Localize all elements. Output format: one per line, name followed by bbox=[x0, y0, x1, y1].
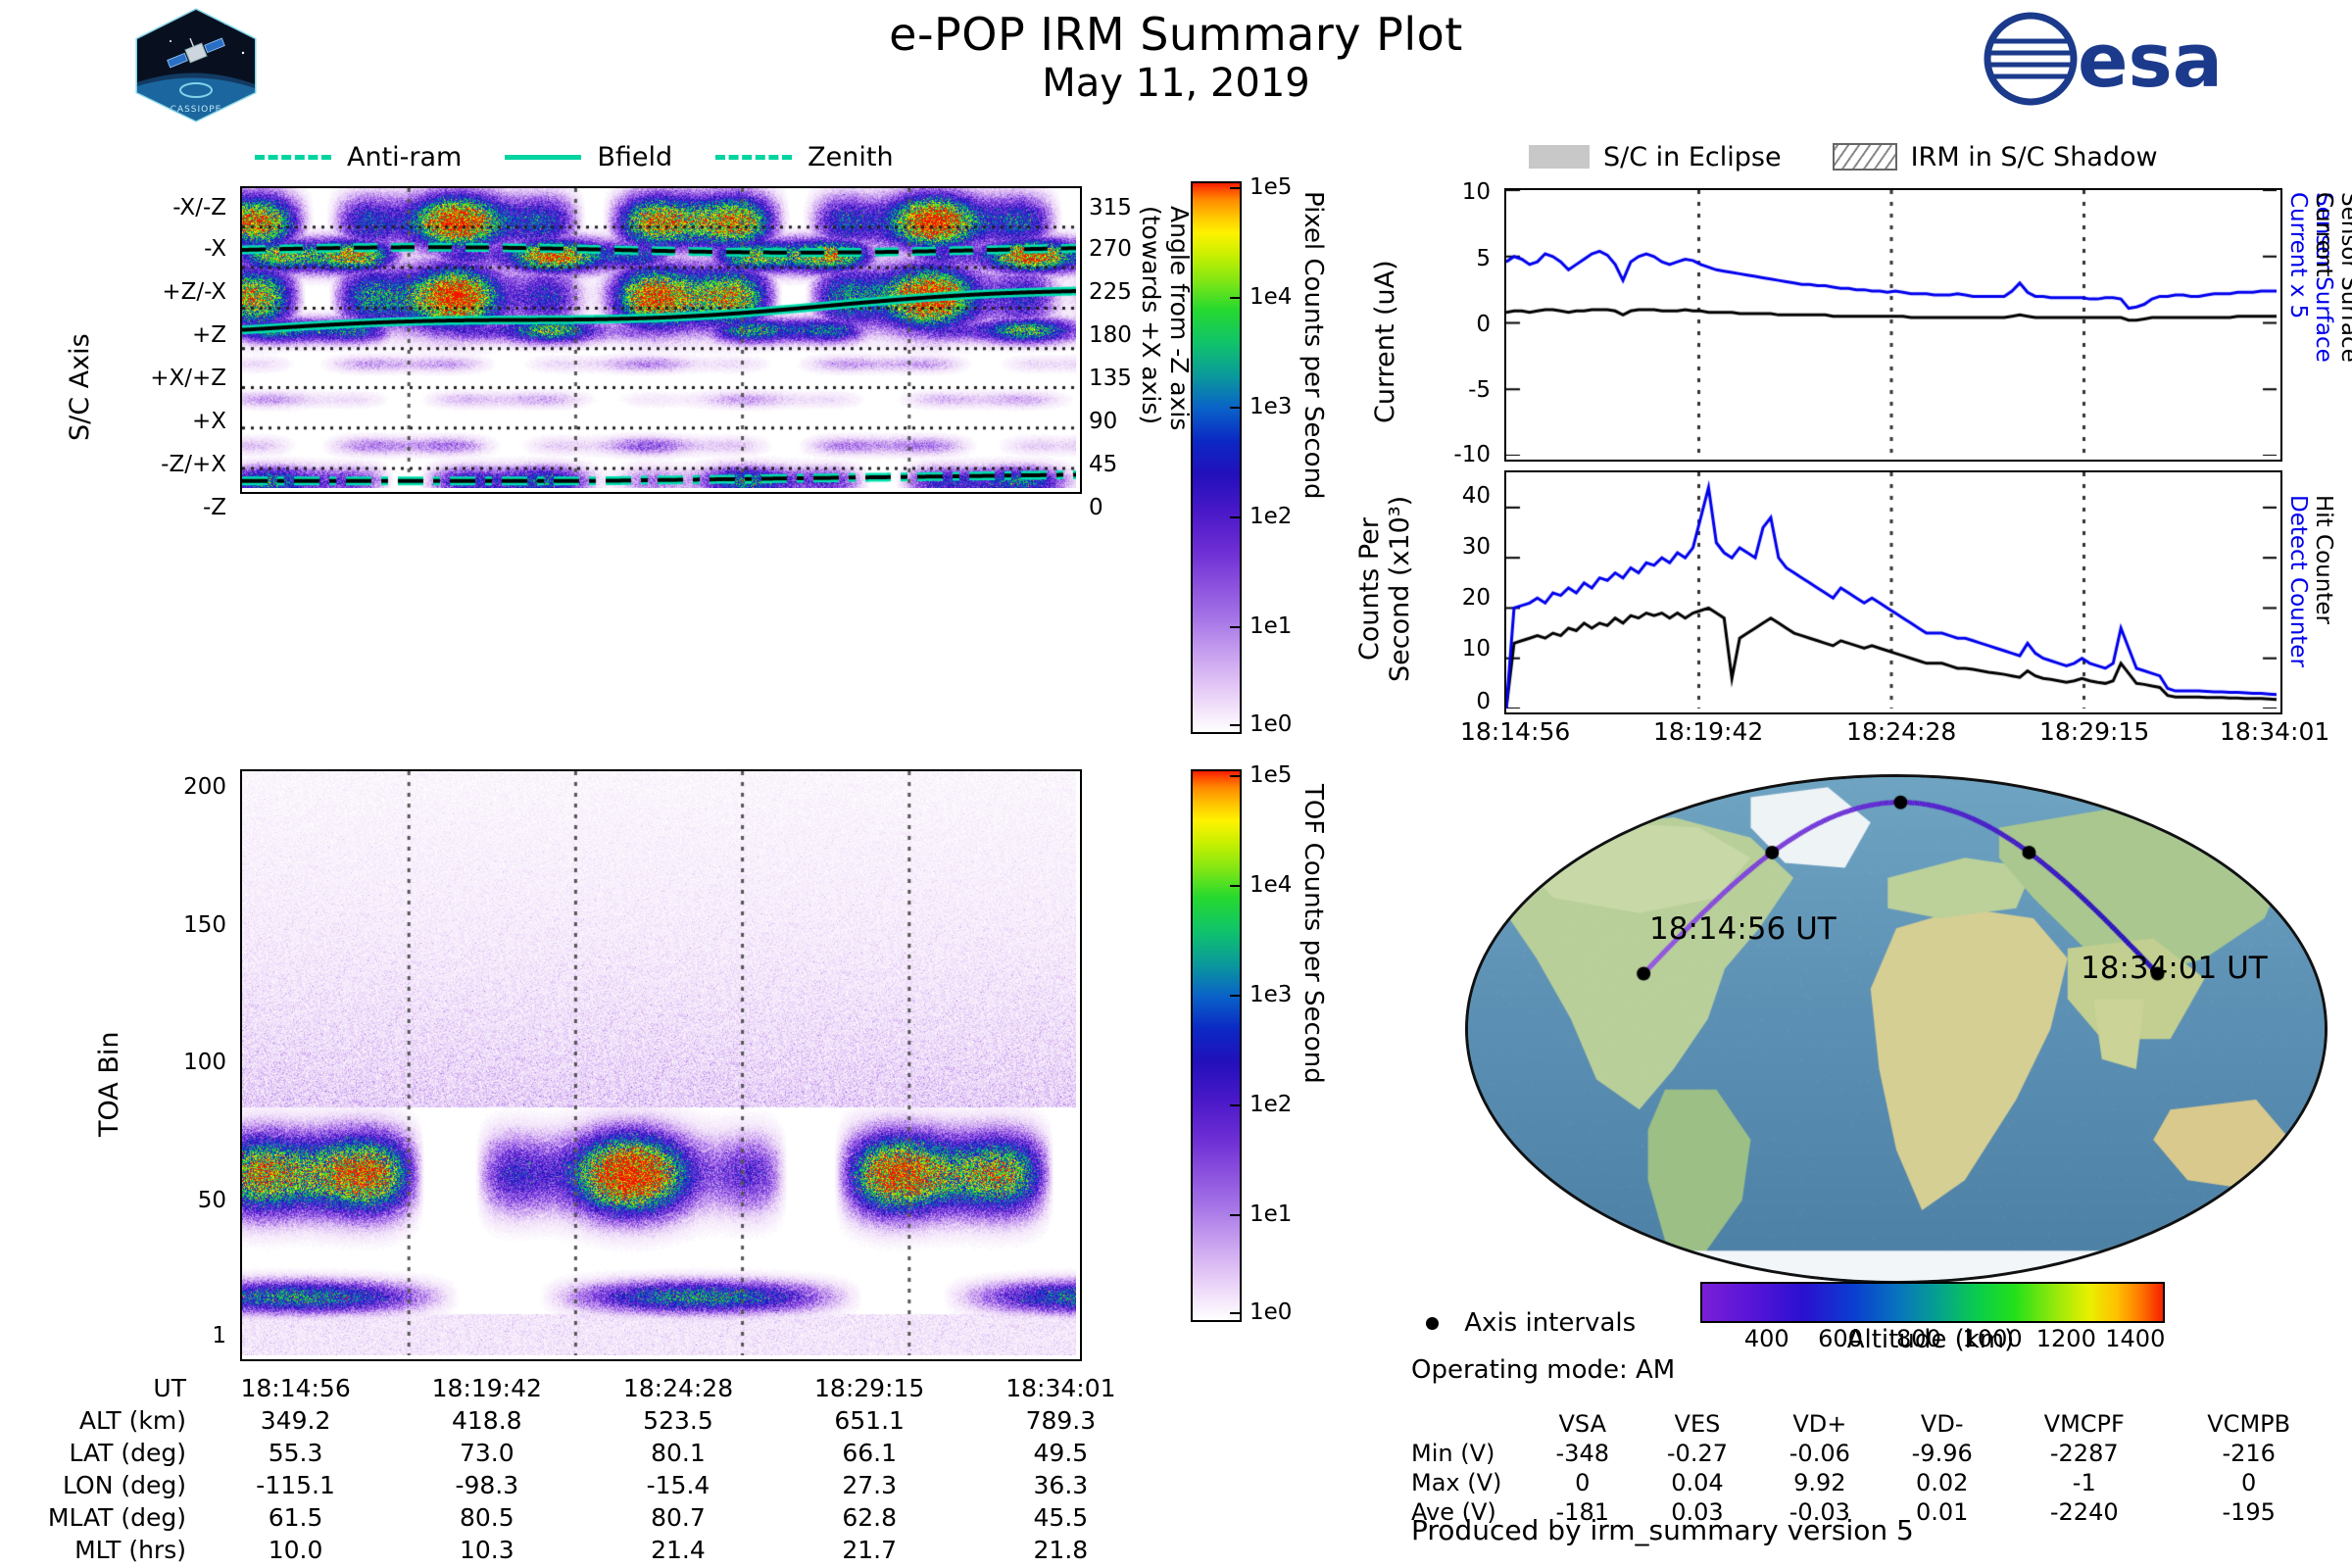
col-vmcpf: VMCPF bbox=[2003, 1409, 2165, 1439]
max-ves: 0.04 bbox=[1637, 1468, 1759, 1497]
mlt-c4: 21.8 bbox=[965, 1534, 1156, 1566]
xtick-r-0: 18:14:56 bbox=[1460, 717, 1570, 746]
bfield-line-icon bbox=[505, 155, 581, 160]
cbar-a-tick-1e5: 1e5 bbox=[1240, 174, 1292, 200]
ave-vcmpb: -195 bbox=[2165, 1497, 2332, 1527]
xtick-r-2: 18:24:28 bbox=[1846, 717, 1956, 746]
cassiope-mission-patch-icon: CASSIOPE bbox=[127, 6, 265, 123]
angle-tick-45: 45 bbox=[1080, 452, 1117, 477]
table-row: LAT (deg) 55.3 73.0 80.1 66.1 49.5 bbox=[0, 1437, 1156, 1469]
lon-c0: -115.1 bbox=[200, 1469, 391, 1501]
sc-axis-ytick-labels: -X/-Z -X +Z/-X +Z +X/+Z +X -Z/+X -Z bbox=[98, 186, 235, 490]
xtick-r-3: 18:29:15 bbox=[2039, 717, 2149, 746]
eclipse-legend: S/C in Eclipse IRM in S/C Shadow bbox=[1529, 137, 2313, 176]
angle-tick-225: 225 bbox=[1080, 279, 1132, 305]
legend-label-zenith: Zenith bbox=[808, 142, 893, 172]
legend-label-bfield: Bfield bbox=[597, 142, 672, 172]
ytick-nz: -Z bbox=[203, 495, 235, 520]
table-row: MLT (hrs) 10.0 10.3 21.4 21.7 21.8 bbox=[0, 1534, 1156, 1566]
toa-bin-spectrogram bbox=[240, 769, 1082, 1361]
mlt-c1: 10.3 bbox=[391, 1534, 582, 1566]
lat-c1: 73.0 bbox=[391, 1437, 582, 1469]
spectrogram-legend: Anti-ram Bfield Zenith bbox=[255, 137, 1068, 176]
row-label-mlt: MLT (hrs) bbox=[0, 1534, 200, 1566]
ephemeris-table: UT 18:14:56 18:19:42 18:24:28 18:29:15 1… bbox=[0, 1372, 1156, 1566]
lat-c4: 49.5 bbox=[965, 1437, 1156, 1469]
row-label-lon: LON (deg) bbox=[0, 1469, 200, 1501]
esa-logo-text: esa bbox=[2078, 17, 2223, 104]
ut-c2: 18:24:28 bbox=[582, 1372, 773, 1404]
col-vdp: VD+ bbox=[1758, 1409, 1881, 1439]
ytick-x-z: -X/-Z bbox=[172, 195, 235, 220]
counts-tick-30: 30 bbox=[1462, 534, 1499, 560]
current-ytick-labels: 10 5 0 -5 -10 bbox=[1411, 188, 1499, 458]
col-vdm: VD- bbox=[1881, 1409, 2003, 1439]
angle-tick-135: 135 bbox=[1080, 366, 1132, 391]
toa-tick-200: 200 bbox=[183, 774, 235, 800]
row-label-mlat: MLAT (deg) bbox=[0, 1501, 200, 1534]
axis-interval-dot-icon bbox=[1426, 1317, 1439, 1330]
legend-label-anti-ram: Anti-ram bbox=[347, 142, 462, 172]
volt-corner bbox=[1411, 1409, 1529, 1439]
row-label-lat: LAT (deg) bbox=[0, 1437, 200, 1469]
angle-tick-180: 180 bbox=[1080, 322, 1132, 348]
ytick-nz-px: -Z/+X bbox=[161, 452, 235, 477]
axis-intervals-legend: Axis intervals bbox=[1426, 1308, 1636, 1338]
alt-c4: 789.3 bbox=[965, 1404, 1156, 1437]
operating-mode-label: Operating mode: AM bbox=[1411, 1355, 1675, 1385]
altitude-colorbar: 400 600 800 1000 1200 1400 bbox=[1700, 1282, 2165, 1323]
current-tick-m10: -10 bbox=[1453, 442, 1499, 467]
ut-c0: 18:14:56 bbox=[200, 1372, 391, 1404]
lat-c0: 55.3 bbox=[200, 1437, 391, 1469]
ytick-pz: +Z bbox=[192, 322, 235, 348]
sc-axis-spectrogram bbox=[240, 186, 1082, 494]
angle-tick-315: 315 bbox=[1080, 195, 1132, 220]
alt-c2: 523.5 bbox=[582, 1404, 773, 1437]
altitude-colorbar-title: Altitude (km) bbox=[1700, 1325, 2161, 1354]
alt-c3: 651.1 bbox=[774, 1404, 965, 1437]
col-vcmpb: VCMPB bbox=[2165, 1409, 2332, 1439]
table-row: LON (deg) -115.1 -98.3 -15.4 27.3 36.3 bbox=[0, 1469, 1156, 1501]
toa-tick-150: 150 bbox=[183, 912, 235, 938]
tof-counts-colorbar: 1e5 1e4 1e3 1e2 1e1 1e0 bbox=[1191, 769, 1242, 1322]
map-end-time-label: 18:34:01 UT bbox=[2081, 951, 2268, 986]
legend-item-anti-ram: Anti-ram bbox=[255, 142, 462, 172]
alt-c1: 418.8 bbox=[391, 1404, 582, 1437]
xtick-r-1: 18:19:42 bbox=[1653, 717, 1763, 746]
mlat-c2: 80.7 bbox=[582, 1501, 773, 1534]
lat-c3: 66.1 bbox=[774, 1437, 965, 1469]
mlat-c0: 61.5 bbox=[200, 1501, 391, 1534]
toa-tick-100: 100 bbox=[183, 1050, 235, 1075]
pixel-counts-colorbar-title: Pixel Counts per Second bbox=[1298, 191, 1328, 652]
legend-label-sc-eclipse: S/C in Eclipse bbox=[1603, 142, 1782, 172]
min-ves: -0.27 bbox=[1637, 1439, 1759, 1468]
alt-c0: 349.2 bbox=[200, 1404, 391, 1437]
min-vsa: -348 bbox=[1529, 1439, 1637, 1468]
ytick-x: -X bbox=[204, 236, 235, 262]
cbar-b-tick-1e5: 1e5 bbox=[1240, 762, 1292, 788]
angle-tick-0: 0 bbox=[1080, 495, 1103, 520]
cbar-a-tick-1e2: 1e2 bbox=[1240, 504, 1292, 529]
mlat-c1: 80.5 bbox=[391, 1501, 582, 1534]
counts-tick-10: 10 bbox=[1462, 636, 1499, 661]
produced-by-label: Produced by irm_summary version 5 bbox=[1411, 1514, 1914, 1546]
cbar-a-tick-1e3: 1e3 bbox=[1240, 394, 1292, 419]
pixel-counts-colorbar: 1e5 1e4 1e3 1e2 1e1 1e0 bbox=[1191, 181, 1242, 734]
max-vmcpf: -1 bbox=[2003, 1468, 2165, 1497]
table-row: MLAT (deg) 61.5 80.5 80.7 62.8 45.5 bbox=[0, 1501, 1156, 1534]
ut-c3: 18:29:15 bbox=[774, 1372, 965, 1404]
cbar-b-tick-1e0: 1e0 bbox=[1240, 1299, 1292, 1325]
toa-tick-1: 1 bbox=[212, 1323, 235, 1348]
current-panel bbox=[1504, 188, 2282, 462]
axis-intervals-label: Axis intervals bbox=[1464, 1308, 1636, 1338]
toa-bin-ytick-labels: 200 150 100 50 1 bbox=[127, 769, 235, 1357]
current-ylabel: Current (uA) bbox=[1370, 227, 1400, 423]
cbar-a-tick-1e4: 1e4 bbox=[1240, 284, 1292, 310]
ut-c1: 18:19:42 bbox=[391, 1372, 582, 1404]
col-vsa: VSA bbox=[1529, 1409, 1637, 1439]
mlat-c4: 45.5 bbox=[965, 1501, 1156, 1534]
max-vsa: 0 bbox=[1529, 1468, 1637, 1497]
volt-row-min: Min (V) bbox=[1411, 1439, 1529, 1468]
lon-c2: -15.4 bbox=[582, 1469, 773, 1501]
zenith-line-icon bbox=[715, 155, 792, 160]
table-row: Max (V) 0 0.04 9.92 0.02 -1 0 bbox=[1411, 1468, 2332, 1497]
lon-c4: 36.3 bbox=[965, 1469, 1156, 1501]
current-tick-5: 5 bbox=[1476, 246, 1499, 271]
cbar-b-tick-1e1: 1e1 bbox=[1240, 1201, 1292, 1227]
max-vcmpb: 0 bbox=[2165, 1468, 2332, 1497]
counts-tick-20: 20 bbox=[1462, 585, 1499, 611]
min-vdp: -0.06 bbox=[1758, 1439, 1881, 1468]
min-vcmpb: -216 bbox=[2165, 1439, 2332, 1468]
current-right-label-black: Sensor Surface Current bbox=[2311, 192, 2352, 452]
right-panels-xtick-labels: 18:14:56 18:19:42 18:24:28 18:29:15 18:3… bbox=[1460, 717, 2342, 757]
row-label-ut: UT bbox=[0, 1372, 200, 1404]
mlat-c3: 62.8 bbox=[774, 1501, 965, 1534]
shadow-hatch-icon bbox=[1833, 143, 1897, 171]
table-header-row: VSA VES VD+ VD- VMCPF VCMPB bbox=[1411, 1409, 2332, 1439]
eclipse-swatch-icon bbox=[1529, 145, 1590, 169]
cbar-b-tick-1e4: 1e4 bbox=[1240, 872, 1292, 898]
mlt-c0: 10.0 bbox=[200, 1534, 391, 1566]
angle-tick-270: 270 bbox=[1080, 236, 1132, 262]
tof-counts-colorbar-title: TOF Counts per Second bbox=[1298, 784, 1328, 1245]
counts-ylabel: Counts Per Second (x10³) bbox=[1354, 476, 1415, 702]
mlt-c2: 21.4 bbox=[582, 1534, 773, 1566]
table-row: UT 18:14:56 18:19:42 18:24:28 18:29:15 1… bbox=[0, 1372, 1156, 1404]
esa-logo-icon: esa bbox=[1980, 10, 2313, 108]
angle-tick-90: 90 bbox=[1080, 409, 1117, 434]
cbar-a-tick-1e0: 1e0 bbox=[1240, 711, 1292, 737]
xtick-r-4: 18:34:01 bbox=[2220, 717, 2329, 746]
map-canvas bbox=[1465, 774, 2327, 1284]
lon-c1: -98.3 bbox=[391, 1469, 582, 1501]
legend-item-bfield: Bfield bbox=[505, 142, 672, 172]
map-start-time-label: 18:14:56 UT bbox=[1649, 911, 1837, 947]
ytick-x-pz: +X/+Z bbox=[150, 366, 235, 391]
ground-track-map: 18:14:56 UT 18:34:01 UT bbox=[1465, 774, 2327, 1284]
volt-row-max: Max (V) bbox=[1411, 1468, 1529, 1497]
min-vmcpf: -2287 bbox=[2003, 1439, 2165, 1468]
counts-right-label-black: Hit Counter bbox=[2311, 495, 2336, 710]
counts-tick-0: 0 bbox=[1476, 689, 1499, 714]
legend-item-zenith: Zenith bbox=[715, 142, 893, 172]
current-tick-0: 0 bbox=[1476, 312, 1499, 337]
cbar-b-tick-1e3: 1e3 bbox=[1240, 982, 1292, 1007]
lat-c2: 80.1 bbox=[582, 1437, 773, 1469]
sc-axis-ylabel: S/C Axis bbox=[65, 245, 95, 441]
toa-bin-ylabel: TOA Bin bbox=[94, 980, 124, 1137]
page-title: e-POP IRM Summary Plot bbox=[588, 8, 1764, 61]
angle-axis-label: Angle from -Z axis (towards +X axis) bbox=[1137, 206, 1194, 490]
min-vdm: -9.96 bbox=[1881, 1439, 2003, 1468]
counts-panel bbox=[1504, 470, 2282, 714]
row-label-alt: ALT (km) bbox=[0, 1404, 200, 1437]
counts-tick-40: 40 bbox=[1462, 483, 1499, 509]
col-ves: VES bbox=[1637, 1409, 1759, 1439]
ytick-px: +X bbox=[192, 409, 235, 434]
max-vdm: 0.02 bbox=[1881, 1468, 2003, 1497]
counts-ytick-labels: 40 30 20 10 0 bbox=[1411, 470, 1499, 710]
anti-ram-line-icon bbox=[255, 155, 331, 160]
max-vdp: 9.92 bbox=[1758, 1468, 1881, 1497]
counts-right-label-blue: Detect Counter bbox=[2285, 495, 2311, 710]
table-row: ALT (km) 349.2 418.8 523.5 651.1 789.3 bbox=[0, 1404, 1156, 1437]
toa-tick-50: 50 bbox=[198, 1188, 235, 1213]
voltage-stats-table: VSA VES VD+ VD- VMCPF VCMPB Min (V) -348… bbox=[1411, 1409, 2332, 1527]
page-subtitle: May 11, 2019 bbox=[588, 61, 1764, 106]
legend-label-irm-shadow: IRM in S/C Shadow bbox=[1911, 142, 2158, 172]
ytick-z-x: +Z/-X bbox=[162, 279, 235, 305]
lon-c3: 27.3 bbox=[774, 1469, 965, 1501]
current-tick-10: 10 bbox=[1462, 179, 1499, 205]
mlt-c3: 21.7 bbox=[774, 1534, 965, 1566]
ave-vmcpf: -2240 bbox=[2003, 1497, 2165, 1527]
table-row: Min (V) -348 -0.27 -0.06 -9.96 -2287 -21… bbox=[1411, 1439, 2332, 1468]
legend-item-sc-eclipse: S/C in Eclipse bbox=[1529, 142, 1782, 172]
current-tick-m5: -5 bbox=[1468, 377, 1499, 403]
ut-c4: 18:34:01 bbox=[965, 1372, 1156, 1404]
legend-item-irm-shadow: IRM in S/C Shadow bbox=[1833, 142, 2158, 172]
cbar-a-tick-1e1: 1e1 bbox=[1240, 613, 1292, 639]
cbar-b-tick-1e2: 1e2 bbox=[1240, 1092, 1292, 1117]
